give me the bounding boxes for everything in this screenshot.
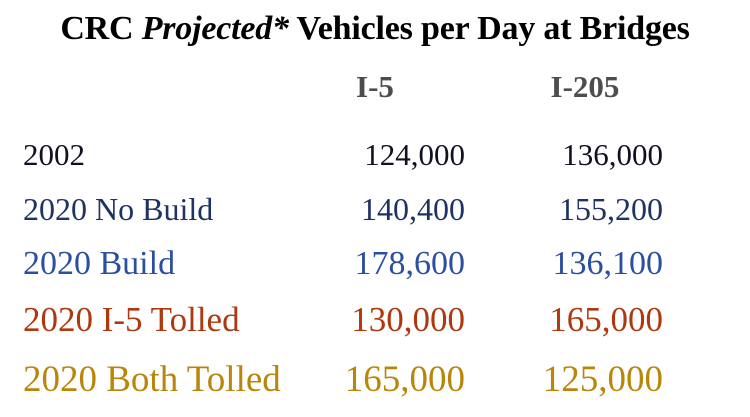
- cell-i205: 136,100: [495, 243, 663, 285]
- row-label: 2020 No Build: [23, 189, 213, 229]
- column-header-i205: I-205: [495, 68, 675, 106]
- cell-i205: 165,000: [495, 298, 663, 342]
- table-header-row: I-5 I-205: [0, 68, 750, 108]
- cell-i205: 155,200: [495, 189, 663, 229]
- row-label: 2020 Both Tolled: [23, 357, 281, 403]
- slide-canvas: CRC Projected* Vehicles per Day at Bridg…: [0, 0, 750, 417]
- cell-i5: 165,000: [300, 357, 465, 403]
- page-title: CRC Projected* Vehicles per Day at Bridg…: [0, 8, 750, 50]
- row-label: 2020 Build: [23, 243, 175, 285]
- row-label: 2002: [23, 136, 85, 174]
- cell-i5: 124,000: [300, 136, 465, 174]
- cell-i5: 178,600: [300, 243, 465, 285]
- column-header-i5: I-5: [300, 68, 450, 106]
- cell-i205: 136,000: [495, 136, 663, 174]
- title-part-italic: Projected*: [142, 10, 289, 47]
- cell-i5: 140,400: [300, 189, 465, 229]
- title-part-after: Vehicles per Day at Bridges: [289, 10, 690, 47]
- title-part-before: CRC: [60, 10, 141, 47]
- row-label: 2020 I-5 Tolled: [23, 298, 240, 342]
- cell-i205: 125,000: [495, 357, 663, 403]
- cell-i5: 130,000: [300, 298, 465, 342]
